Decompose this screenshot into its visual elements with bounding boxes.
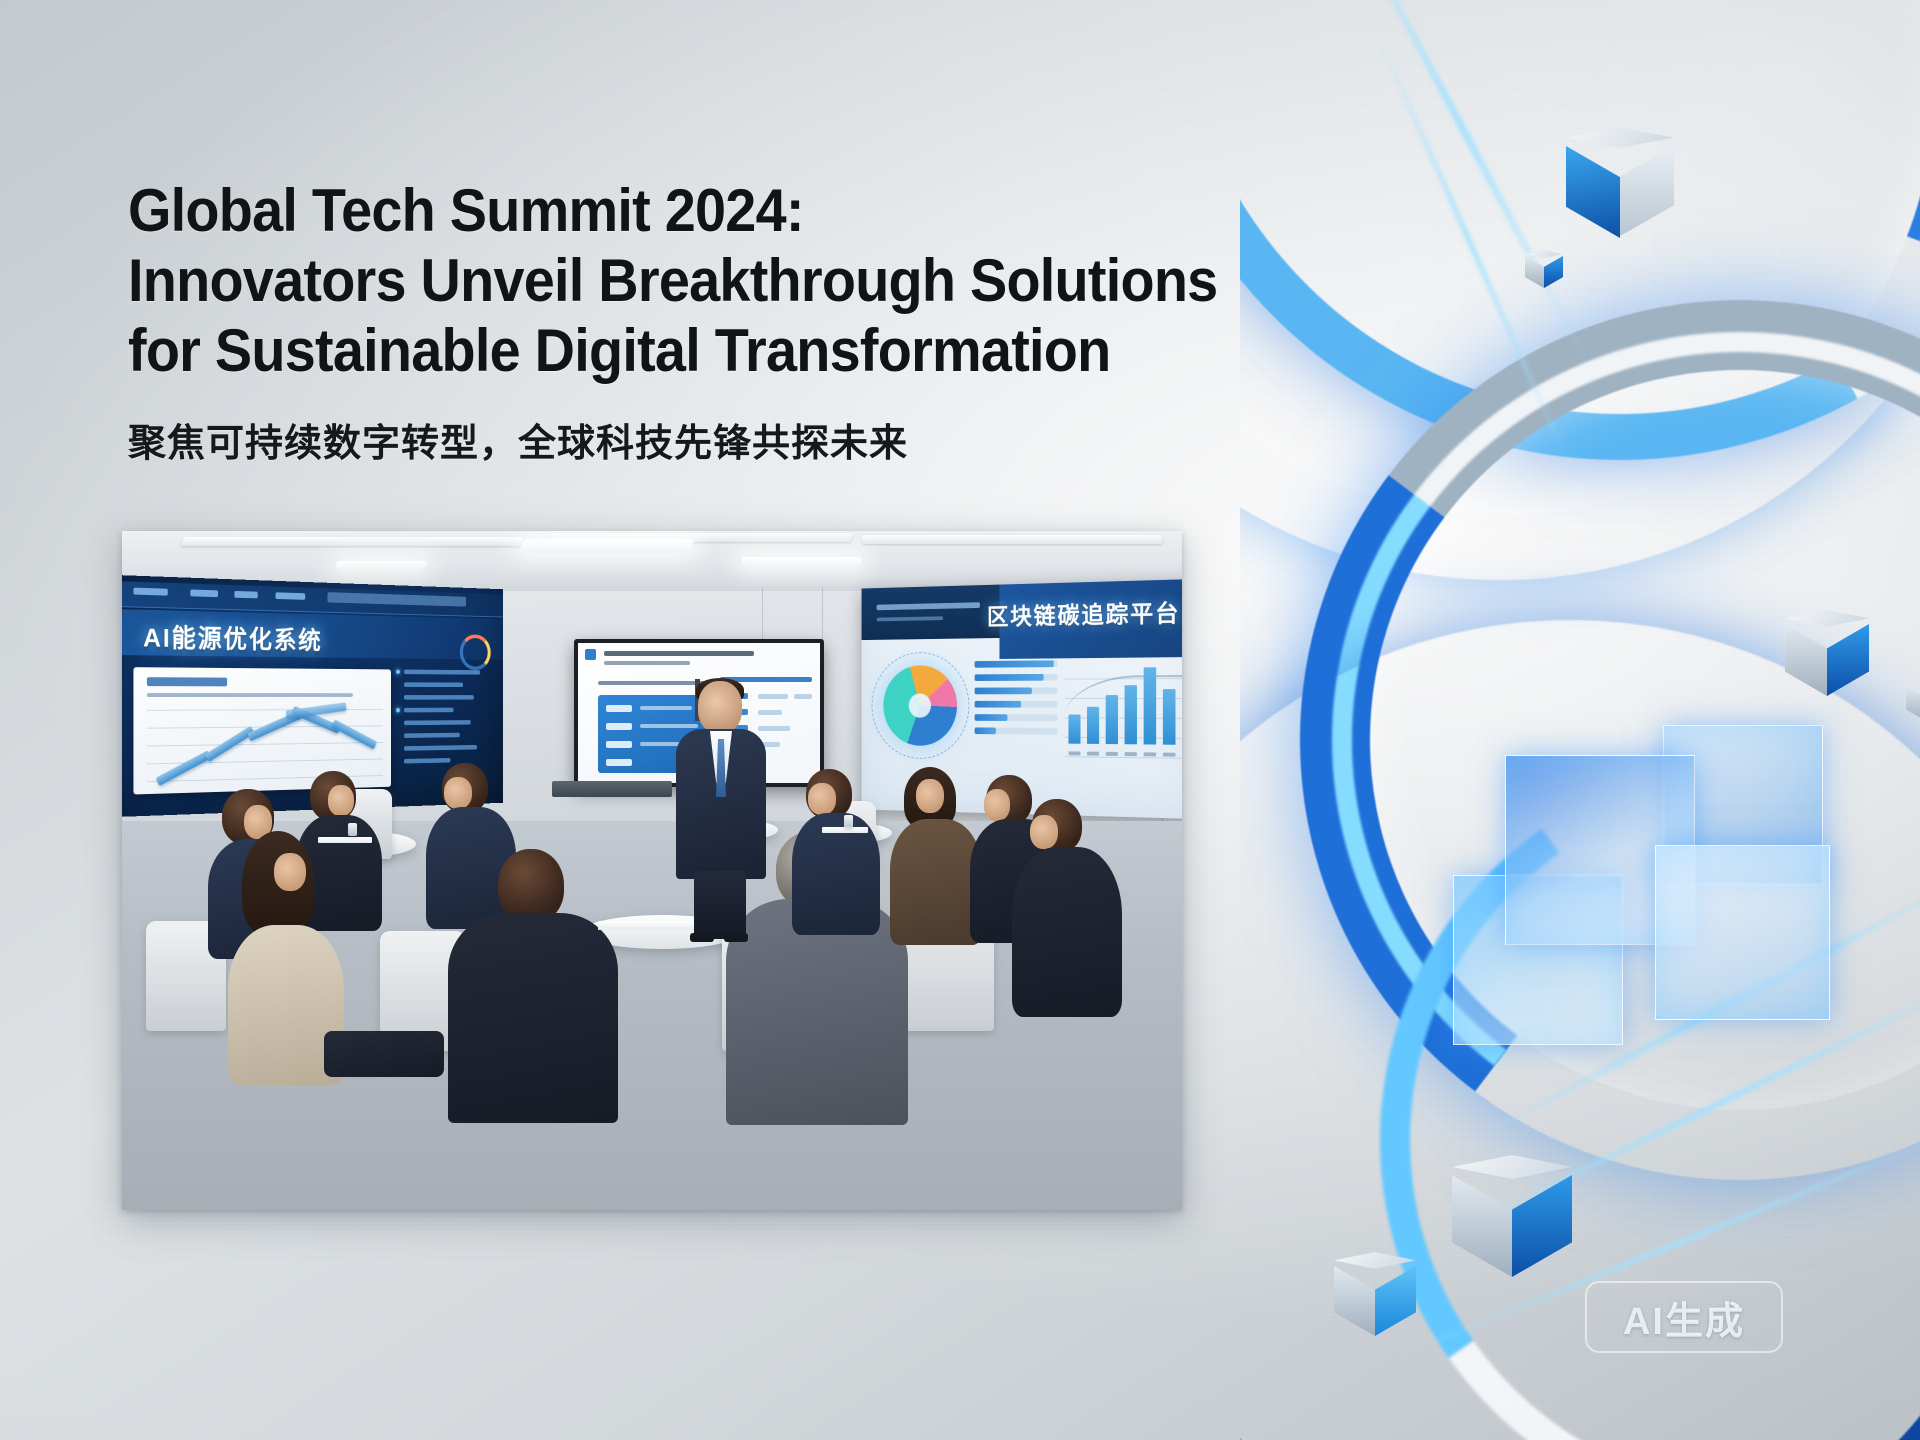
hbar-fill: [975, 660, 1054, 667]
av-equipment: [552, 781, 672, 797]
bar: [1125, 685, 1137, 744]
cube-bottom-small: [1334, 1252, 1416, 1346]
slide-table-cell: [794, 694, 812, 699]
cube-face-left: [1452, 1175, 1512, 1277]
bar-chart: [1065, 659, 1182, 759]
person-body: [1012, 847, 1122, 1017]
water-glass: [348, 823, 357, 836]
presenter-legs: [694, 871, 746, 939]
ceiling-light: [335, 561, 428, 569]
water-glass: [844, 815, 853, 828]
axis-tick: [1068, 751, 1080, 755]
panel-chip: [606, 723, 632, 730]
cube-face-right: [1620, 146, 1674, 236]
paper-document: [318, 837, 372, 843]
headline-line-2: Innovators Unveil Breakthrough Solutions: [128, 246, 1225, 316]
panel-chip: [606, 741, 632, 748]
left-screen-tab: [275, 592, 305, 600]
ceiling-panel: [180, 537, 524, 546]
cube-face-blue: [1566, 146, 1620, 238]
cube-top-small-blue: [1566, 146, 1620, 238]
cube-face-right: [1375, 1266, 1416, 1336]
hbar-fill: [975, 701, 1021, 708]
axis-tick: [1087, 752, 1099, 756]
conference-photo: AI能源优化系统: [122, 531, 1182, 1210]
headline-line-1: Global Tech Summit 2024:: [128, 176, 1225, 246]
axis-tick: [1106, 752, 1118, 756]
panel-row: [404, 720, 471, 725]
person-face: [1030, 815, 1058, 849]
left-screen-tab: [133, 588, 167, 596]
presenter-head: [698, 681, 742, 733]
ceiling-light: [742, 557, 863, 566]
panel-row: [404, 682, 463, 687]
page-title: Global Tech Summit 2024: Innovators Unve…: [128, 176, 1225, 386]
axis-tick: [1144, 752, 1156, 756]
presenter: [668, 681, 774, 941]
bar: [1163, 689, 1176, 745]
bar: [1087, 707, 1099, 744]
person-body: [890, 819, 982, 945]
person-face: [984, 789, 1010, 821]
person-face: [444, 777, 472, 809]
cube-face-left: [1334, 1266, 1375, 1336]
donut-chart: [883, 665, 957, 746]
bar: [1106, 695, 1118, 744]
person-head: [498, 849, 564, 923]
horizontal-bar-chart: [975, 660, 1058, 661]
panel-indicator: [396, 669, 400, 674]
panel-row: [404, 733, 460, 738]
hbar-fill: [975, 714, 1008, 721]
person-face: [808, 783, 836, 815]
headline-line-3: for Sustainable Digital Transformation: [128, 316, 1225, 386]
presenter-shoe: [690, 933, 714, 942]
person-face: [274, 853, 306, 891]
left-screen-gauge: [460, 634, 491, 670]
chart-card-heading: [147, 677, 227, 686]
cube-face-left: [1525, 256, 1544, 288]
panel-row: [404, 708, 453, 713]
hbar-fill: [975, 674, 1044, 681]
slide-subtitle-bar: [604, 661, 690, 665]
panel-row: [404, 670, 480, 675]
bar: [1068, 715, 1080, 744]
cube-face-right: [1512, 1175, 1572, 1277]
glass-cube: [1655, 845, 1830, 1020]
panel-row: [404, 695, 474, 700]
bar: [1144, 667, 1156, 744]
panel-chip: [606, 705, 632, 712]
cube-face-left: [1906, 686, 1920, 722]
cube-face-left: [1785, 624, 1827, 696]
left-screen-tab: [190, 589, 218, 597]
cube-tiny: [1525, 250, 1563, 294]
right-screen-title: 区块链碳追踪平台: [987, 593, 1180, 631]
panel-row: [404, 758, 450, 764]
left-screen-tab: [234, 591, 257, 598]
hbar-fill: [975, 727, 996, 734]
person-body: [448, 913, 618, 1123]
left-screen-chart-card: [133, 667, 391, 794]
ceiling-light: [520, 539, 693, 553]
person-face: [916, 779, 944, 813]
ai-generated-watermark: AI生成: [1585, 1281, 1783, 1353]
person-legs: [324, 1031, 444, 1077]
page-subtitle: 聚焦可持续数字转型，全球科技先锋共探未来: [128, 420, 908, 468]
cube-bottom-large: [1452, 1155, 1572, 1293]
chart-card-subtext: [147, 693, 353, 697]
cube-face-right: [1544, 256, 1563, 288]
cube-mid-right: [1785, 610, 1869, 706]
person-face: [328, 785, 354, 816]
panel-chip: [606, 759, 632, 766]
axis-tick: [1163, 753, 1176, 757]
panel-row: [404, 745, 477, 751]
slide-title-bar: [604, 651, 754, 656]
left-screen-title: AI能源优化系统: [143, 618, 322, 657]
panel-indicator: [396, 708, 400, 713]
axis-tick: [1125, 752, 1137, 756]
presenter-shoe: [724, 933, 748, 942]
ceiling-panel: [861, 535, 1162, 544]
hbar-fill: [975, 687, 1032, 694]
slide-logo: [585, 649, 596, 660]
cube-face-right: [1827, 624, 1869, 696]
glass-cube-cluster: [1505, 725, 1875, 1075]
cube-far-right: [1906, 680, 1920, 730]
